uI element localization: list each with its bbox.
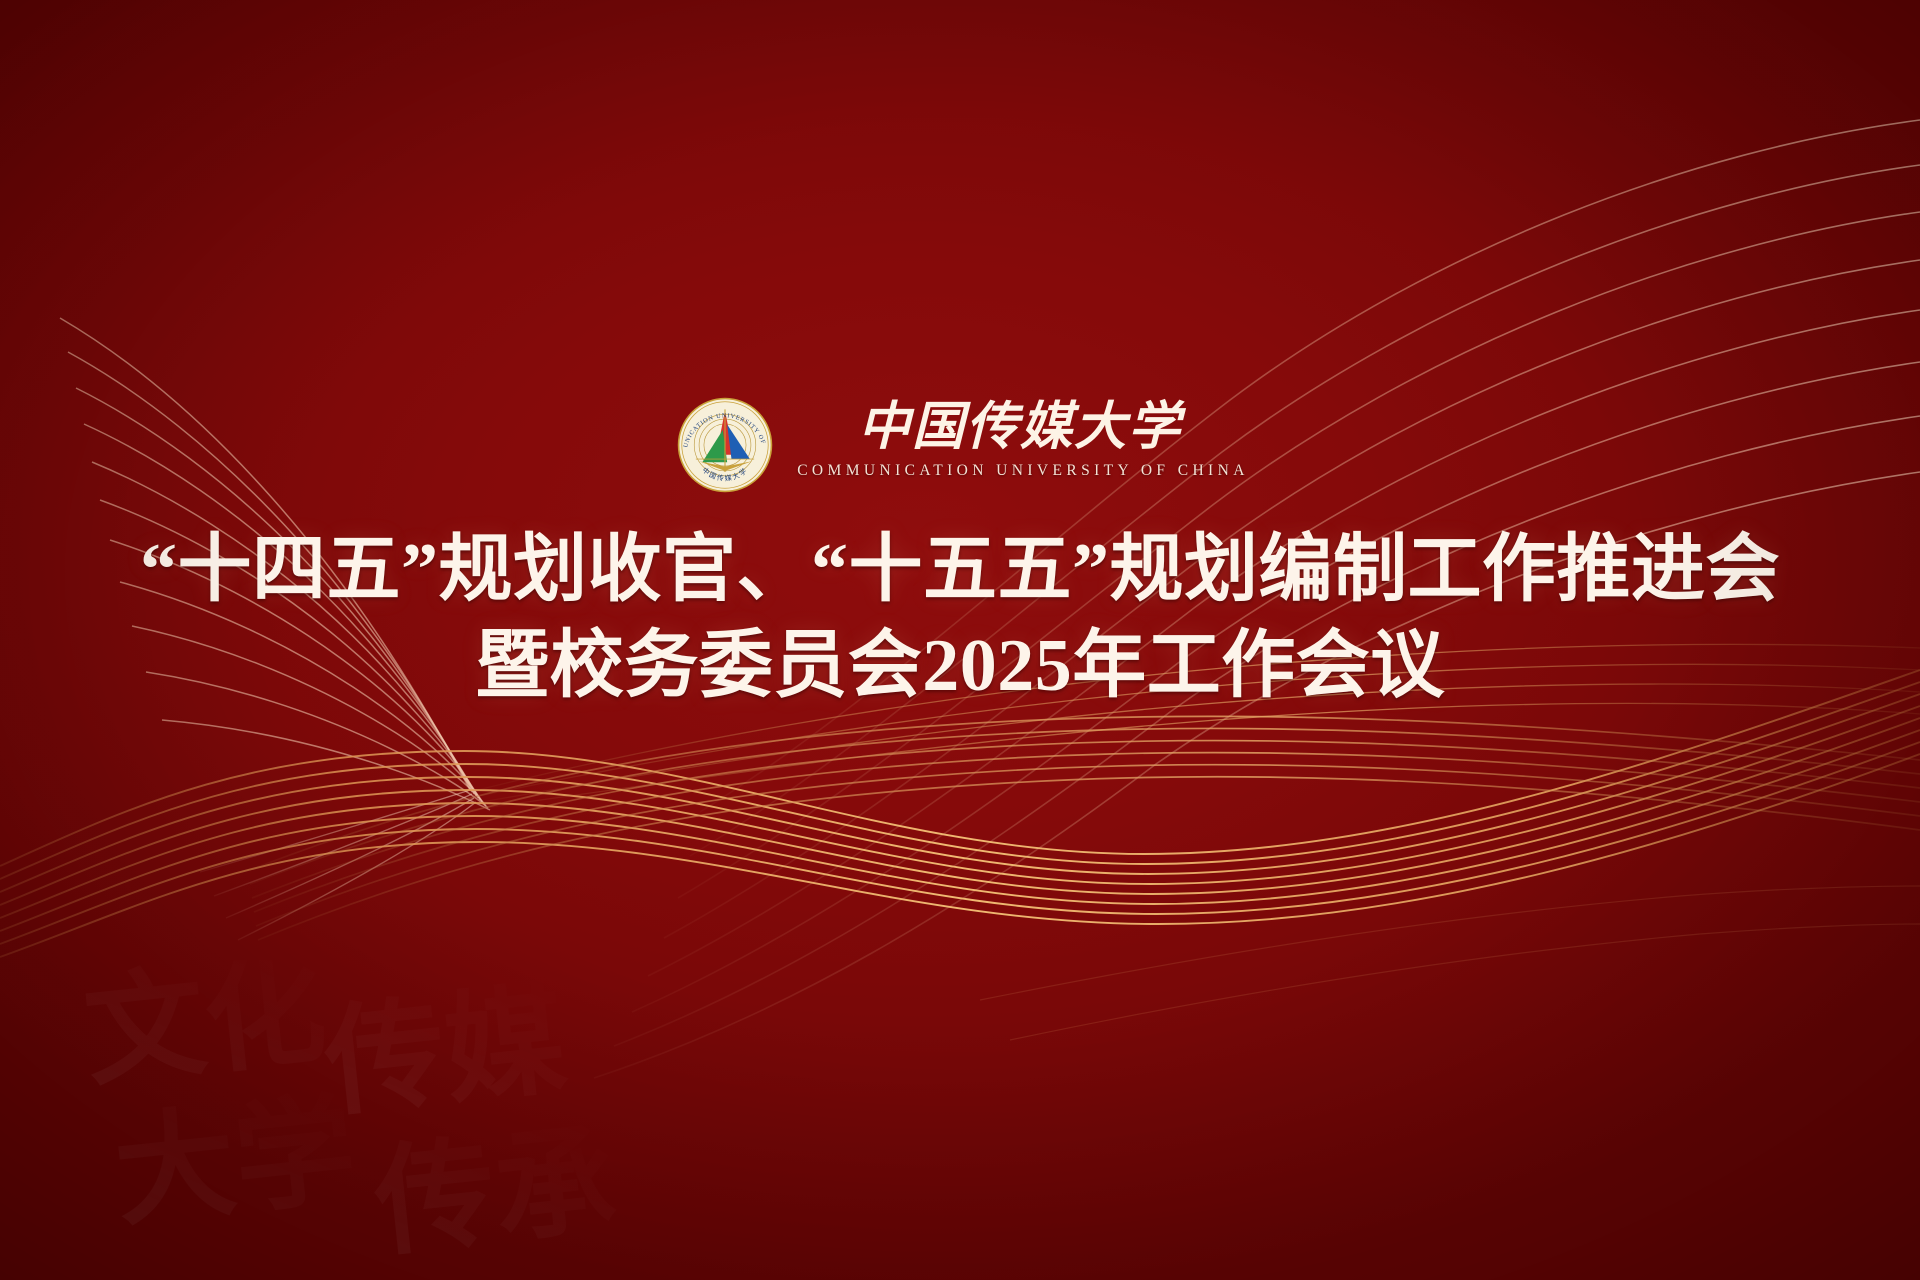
university-wordmark: 中国传媒大学 COMMUNICATION UNIVERSITY OF CHINA	[797, 392, 1249, 480]
headline-line-1: “十四五”规划收官、“十五五”规划编制工作推进会	[0, 522, 1920, 618]
university-name-cn-text: 中国传媒大学	[858, 398, 1187, 456]
university-logo-block: COMMUNICATION UNIVERSITY OF CHINA 中国传媒大学…	[0, 388, 1920, 499]
university-name-cn: 中国传媒大学	[858, 392, 1188, 458]
conference-headline: “十四五”规划收官、“十五五”规划编制工作推进会 暨校务委员会2025年工作会议	[0, 522, 1920, 714]
university-name-en: COMMUNICATION UNIVERSITY OF CHINA	[797, 462, 1249, 480]
headline-line-2: 暨校务委员会2025年工作会议	[0, 618, 1920, 714]
title-slide: 文化 传媒 大学 传承	[0, 0, 1920, 1280]
university-seal-icon: COMMUNICATION UNIVERSITY OF CHINA 中国传媒大学	[671, 391, 779, 499]
